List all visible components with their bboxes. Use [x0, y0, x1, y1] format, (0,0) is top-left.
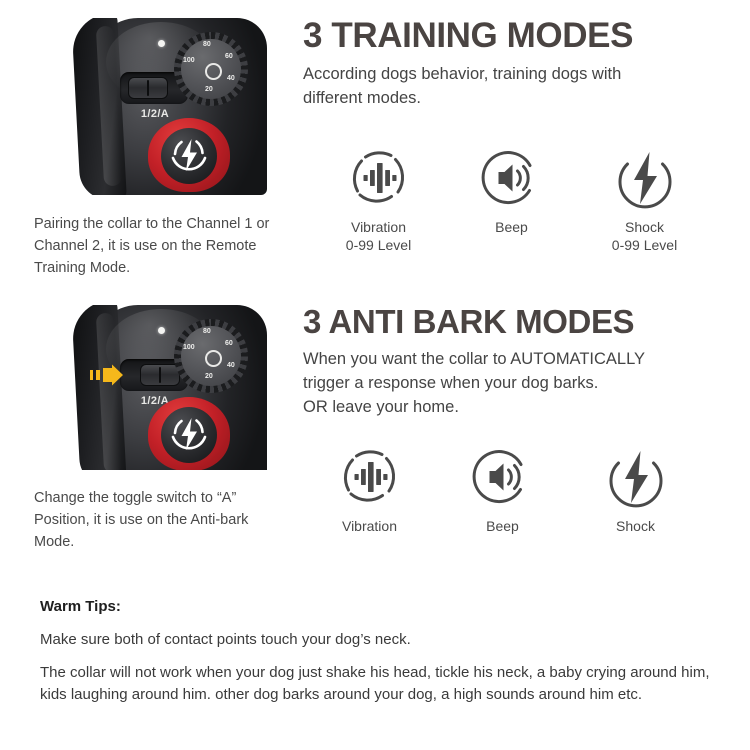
mode-vibration: Vibration 0-99 Level: [312, 146, 445, 255]
device-photo-remote-training: 1/2/A 100 80 60 40 20: [54, 18, 298, 195]
shock-bolt-icon: [604, 445, 668, 509]
mode-shock: Shock: [569, 445, 702, 535]
mode-beep: Beep: [445, 146, 578, 255]
mode-sub: 0-99 Level: [346, 236, 411, 254]
antibark-caption: Change the toggle switch to “A” Position…: [34, 487, 292, 553]
shock-bolt-icon: [613, 146, 677, 210]
antibark-subtext: When you want the collar to AUTOMATICALL…: [303, 347, 733, 419]
lightning-bolt-icon: [161, 407, 217, 463]
warm-tips-title: Warm Tips:: [40, 598, 718, 615]
mode-shock: Shock 0-99 Level: [578, 146, 711, 255]
mode-label-beep: Beep: [486, 517, 519, 535]
section-anti-bark-modes: 1/2/A 100 80 60 40 20: [0, 305, 750, 575]
training-subtext-line: According dogs behavior, training dogs w…: [303, 62, 733, 86]
training-right-column: 3 TRAINING MODES According dogs behavior…: [303, 18, 733, 110]
training-subtext: According dogs behavior, training dogs w…: [303, 62, 733, 110]
mode-name: Vibration: [342, 518, 397, 534]
warm-tips-line: The collar will not work when your dog j…: [40, 662, 718, 706]
dial-number: 60: [225, 340, 233, 347]
beep-speaker-icon: [471, 445, 535, 509]
vibration-icon: [347, 146, 411, 210]
mode-name: Shock: [625, 219, 664, 235]
antibark-heading: 3 ANTI BARK MODES: [303, 305, 733, 340]
mode-label-shock: Shock 0-99 Level: [612, 218, 677, 255]
mode-label-beep: Beep: [495, 218, 528, 236]
mode-beep: Beep: [436, 445, 569, 535]
dial-number: 20: [205, 373, 213, 380]
infographic-page: 1/2/A 100 80 60 40 20: [0, 0, 750, 750]
antibark-subtext-line: OR leave your home.: [303, 395, 733, 419]
pointer-arrow-icon: [90, 363, 124, 387]
training-mode-row: Vibration 0-99 Level Beep: [312, 146, 712, 255]
training-caption: Pairing the collar to the Channel 1 or C…: [34, 213, 302, 279]
shock-button-inner: [161, 128, 217, 184]
led-indicator-icon: [158, 40, 165, 47]
dial-number: 80: [203, 41, 211, 48]
vibration-icon: [338, 445, 402, 509]
toggle-switch-knob[interactable]: [128, 77, 168, 99]
shock-button[interactable]: [148, 118, 230, 192]
mode-name: Beep: [495, 219, 528, 235]
antibark-left-column: 1/2/A 100 80 60 40 20: [34, 305, 302, 470]
section-training-modes: 1/2/A 100 80 60 40 20: [0, 18, 750, 283]
training-subtext-line: different modes.: [303, 86, 733, 110]
device-photo-anti-bark: 1/2/A 100 80 60 40 20: [54, 305, 298, 470]
dial-number: 60: [225, 53, 233, 60]
antibark-subtext-line: When you want the collar to AUTOMATICALL…: [303, 347, 733, 371]
dial-center-ring-icon: [205, 63, 222, 80]
warm-tips-line: Make sure both of contact points touch y…: [40, 629, 718, 651]
beep-speaker-icon: [480, 146, 544, 210]
dial-number: 80: [203, 328, 211, 335]
shock-button[interactable]: [148, 397, 230, 470]
warm-tips-block: Warm Tips: Make sure both of contact poi…: [40, 598, 718, 707]
mode-label-vibration: Vibration 0-99 Level: [346, 218, 411, 255]
mode-name: Vibration: [351, 219, 406, 235]
training-left-column: 1/2/A 100 80 60 40 20: [34, 18, 302, 195]
mode-label-shock: Shock: [616, 517, 655, 535]
antibark-mode-row: Vibration Beep: [303, 445, 703, 535]
dial-face: 100 80 60 40 20: [181, 326, 241, 386]
intensity-dial[interactable]: 100 80 60 40 20: [174, 319, 248, 393]
mode-label-vibration: Vibration: [342, 517, 397, 535]
antibark-subtext-line: trigger a response when your dog barks.: [303, 371, 733, 395]
led-indicator-icon: [158, 327, 165, 334]
antibark-right-column: 3 ANTI BARK MODES When you want the coll…: [303, 305, 733, 419]
mode-name: Shock: [616, 518, 655, 534]
dial-number: 100: [183, 57, 195, 64]
toggle-switch-label: 1/2/A: [124, 108, 186, 120]
dial-number: 20: [205, 86, 213, 93]
dial-face: 100 80 60 40 20: [181, 39, 241, 99]
dial-number: 100: [183, 344, 195, 351]
mode-sub: 0-99 Level: [612, 236, 677, 254]
dial-center-ring-icon: [205, 350, 222, 367]
lightning-bolt-icon: [161, 128, 217, 184]
mode-name: Beep: [486, 518, 519, 534]
dial-number: 40: [227, 362, 235, 369]
mode-vibration: Vibration: [303, 445, 436, 535]
training-heading: 3 TRAINING MODES: [303, 18, 733, 55]
dial-number: 40: [227, 75, 235, 82]
shock-button-inner: [161, 407, 217, 463]
intensity-dial[interactable]: 100 80 60 40 20: [174, 32, 248, 106]
